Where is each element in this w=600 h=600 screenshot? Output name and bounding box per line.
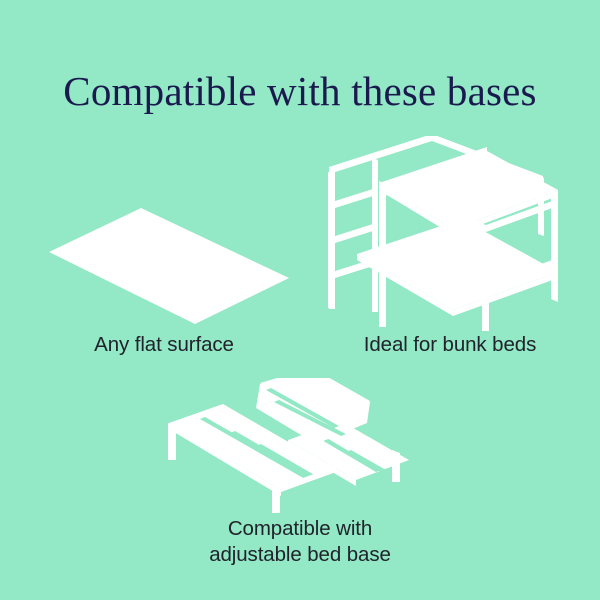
compatibility-infographic: Compatible with these bases Any flat sur… [0, 0, 600, 600]
feature-adjustable-base [160, 378, 450, 513]
adjustable-bed-base-icon [160, 378, 450, 513]
caption-flat-surface: Any flat surface [14, 332, 314, 358]
caption-bunk-bed: Ideal for bunk beds [305, 332, 595, 358]
page-title: Compatible with these bases [0, 68, 600, 114]
feature-bunk-bed [310, 136, 590, 336]
bunk-bed-icon [310, 136, 580, 331]
flat-surface-icon [19, 196, 309, 326]
caption-adjustable-base: Compatible with adjustable bed base [150, 516, 450, 568]
